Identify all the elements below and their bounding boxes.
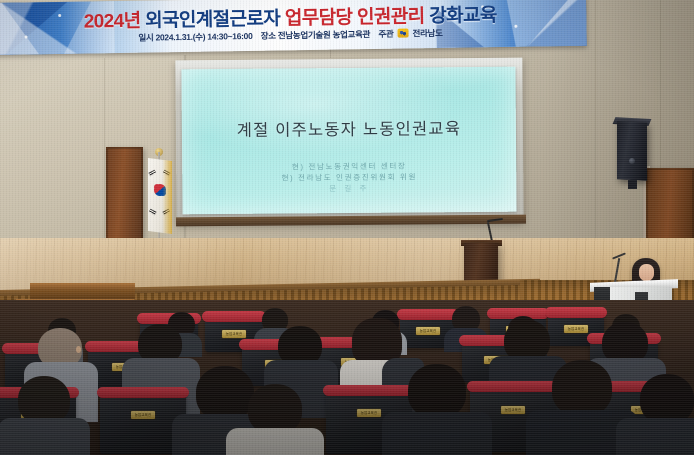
seat-plate: 농업교육관 xyxy=(131,411,155,419)
banner-host-value: 전라남도 xyxy=(412,28,442,38)
banner-title-seg-3: 강화교육 xyxy=(429,5,497,27)
seat-plate: 농업교육관 xyxy=(357,409,381,417)
banner-title-seg-0: 2024년 xyxy=(84,11,146,33)
seat-plate: 농업교육관 xyxy=(564,325,588,333)
stage-step[interactable] xyxy=(30,283,135,290)
wall-seam xyxy=(104,58,105,258)
projection-screen: 계절 이주노동자 노동인권교육 현) 전남노동권익센터 센터장 현) 전라남도 … xyxy=(181,67,516,215)
banner-place-label: 장소 xyxy=(261,31,276,41)
flag-gold-fringe xyxy=(148,158,172,234)
event-banner: 2024년 외국인계절근로자 업무담당 인권관리 강화교육 일시 2024.1.… xyxy=(0,0,587,55)
banner-date-value: 2024.1.31.(수) 14:30~16:00 xyxy=(155,31,252,43)
banner-title-seg-1: 외국인계절근로자 xyxy=(145,8,285,31)
wall-speaker-icon xyxy=(617,121,647,181)
banner-place-value: 전남농업기술원 농업교육관 xyxy=(278,29,370,40)
banner-title-seg-2: 업무담당 인권관리 xyxy=(285,6,430,29)
stage-step-riser xyxy=(30,290,135,299)
seat-plate: 농업교육관 xyxy=(416,327,440,335)
provincial-emblem-icon xyxy=(397,28,408,37)
banner-date-label: 일시 xyxy=(138,33,153,43)
slide-title: 계절 이주노동자 노동인권교육 xyxy=(182,115,516,142)
korean-flag-icon xyxy=(148,158,172,234)
wall-speaker-bracket xyxy=(628,180,637,189)
seat-plate: 농업교육관 xyxy=(222,330,246,338)
auditorium-photo: 2024년 외국인계절근로자 업무담당 인권관리 강화교육 일시 2024.1.… xyxy=(0,0,694,455)
presenter-face xyxy=(639,264,654,281)
wall-speaker-driver-icon xyxy=(629,158,635,164)
seat-plate: 농업교육관 xyxy=(501,406,525,414)
banner-host-label: 주관 xyxy=(378,29,393,39)
